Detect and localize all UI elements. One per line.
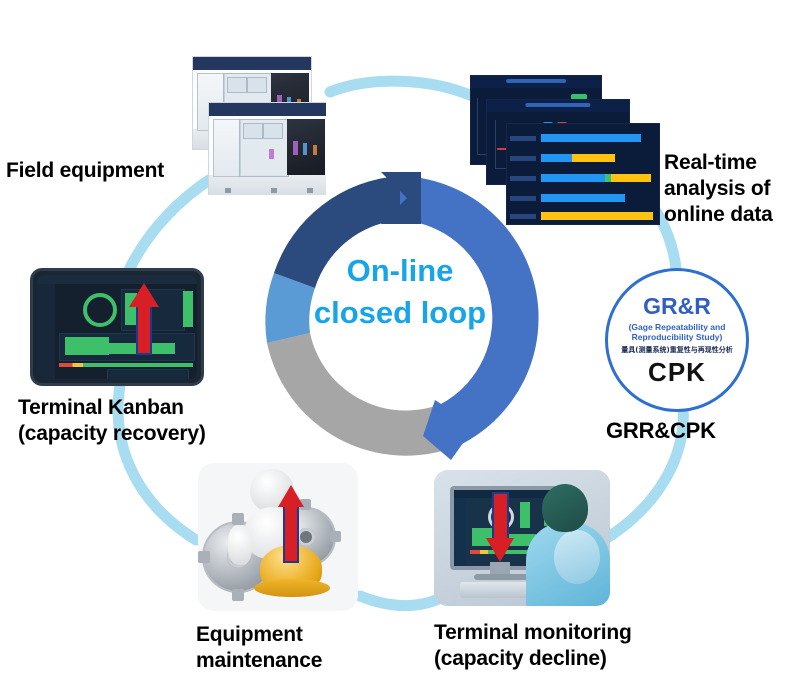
dashboard-panel-front [506, 123, 660, 225]
machine-cabinet [213, 119, 241, 177]
machine-indicator [303, 143, 307, 155]
image-realtime-dashboards[interactable] [470, 75, 660, 225]
gear-tooth [198, 551, 210, 563]
machine-foot [271, 188, 277, 193]
label-realtime-analysis: Real-time analysis of online data [664, 150, 773, 228]
dashboard-title-text [525, 103, 590, 107]
gear-tooth [232, 589, 244, 601]
machine-indicator [293, 141, 298, 155]
gear-tooth [232, 513, 244, 525]
gear-tooth [330, 531, 341, 542]
image-terminal-monitoring[interactable] [434, 470, 610, 606]
bar-row [541, 154, 615, 162]
arc-realtime-to-field [330, 81, 472, 96]
kanban-readout [107, 369, 189, 379]
bar-blue-part [541, 174, 605, 182]
bar-row [541, 212, 653, 220]
chart-axis [477, 98, 478, 154]
person-shoulder [554, 530, 600, 584]
hard-hat-brim [254, 579, 330, 597]
cpk-label: CPK [648, 358, 706, 386]
bar-yellow-part [541, 212, 653, 220]
machine-foot [225, 188, 231, 193]
bar-blue-part [541, 194, 625, 202]
monitor-base [474, 574, 530, 580]
person-head [542, 484, 588, 532]
bar-blue-part [541, 134, 641, 142]
row-label [510, 214, 536, 219]
machine-top-band [193, 57, 311, 70]
bar-row [541, 194, 625, 202]
arrow-up-kanban [129, 283, 159, 355]
image-field-equipment[interactable] [180, 50, 326, 195]
label-terminal-monitoring: Terminal monitoring (capacity decline) [434, 620, 632, 672]
machine-indicator [313, 145, 317, 155]
arrow-down-monitoring [486, 492, 514, 562]
row-label [510, 196, 536, 201]
kanban-screen [37, 275, 197, 379]
kanban-waveform [65, 337, 109, 355]
label-terminal-kanban: Terminal Kanban (capacity recovery) [18, 395, 206, 447]
kanban-top-bar [37, 275, 197, 284]
image-grr-cpk-badge[interactable]: GR&R (Gage Repeatability and Reproducibi… [605, 268, 749, 412]
bar-yellow-part [572, 154, 615, 162]
grr-subtitle: (Gage Repeatability and Reproducibility … [629, 322, 726, 342]
machine-foot [307, 188, 313, 193]
arrow-up-maintenance [278, 485, 304, 559]
grr-subtitle-cn: 量具(测量系统)重复性与再现性分析 [621, 346, 732, 355]
label-equipment-maintenance: Equipment maintenance [196, 622, 322, 674]
image-terminal-kanban[interactable] [30, 268, 204, 386]
bar-row [541, 174, 651, 182]
machine-window [247, 77, 267, 93]
label-field-equipment: Field equipment [6, 158, 164, 184]
bar-green-part [605, 174, 612, 182]
machine-top-band [209, 103, 326, 116]
grr-title: GR&R [643, 294, 711, 319]
row-label [510, 136, 536, 141]
kanban-status-bar [59, 363, 193, 367]
machine-window [243, 123, 263, 139]
machine-window [227, 77, 247, 93]
figure-arm [228, 525, 252, 565]
chart-axis [495, 120, 496, 168]
kanban-sidebar [37, 284, 55, 379]
center-label: On-line closed loop [285, 250, 515, 334]
machine-photo-front [208, 102, 326, 195]
bar-yellow-part [611, 174, 651, 182]
kanban-green-bar [183, 291, 193, 327]
kanban-gauge [83, 293, 117, 327]
row-label [510, 176, 536, 181]
diagram-canvas: On-line closed loop [0, 0, 800, 684]
label-grr-cpk: GRR&CPK [606, 418, 716, 444]
bar-row [541, 134, 645, 142]
machine-window [263, 123, 283, 139]
row-label [510, 156, 536, 161]
dashboard-title-text [506, 79, 566, 83]
bar-blue-part [541, 154, 572, 162]
machine-indicator [269, 149, 274, 159]
image-equipment-maintenance[interactable] [198, 463, 358, 611]
